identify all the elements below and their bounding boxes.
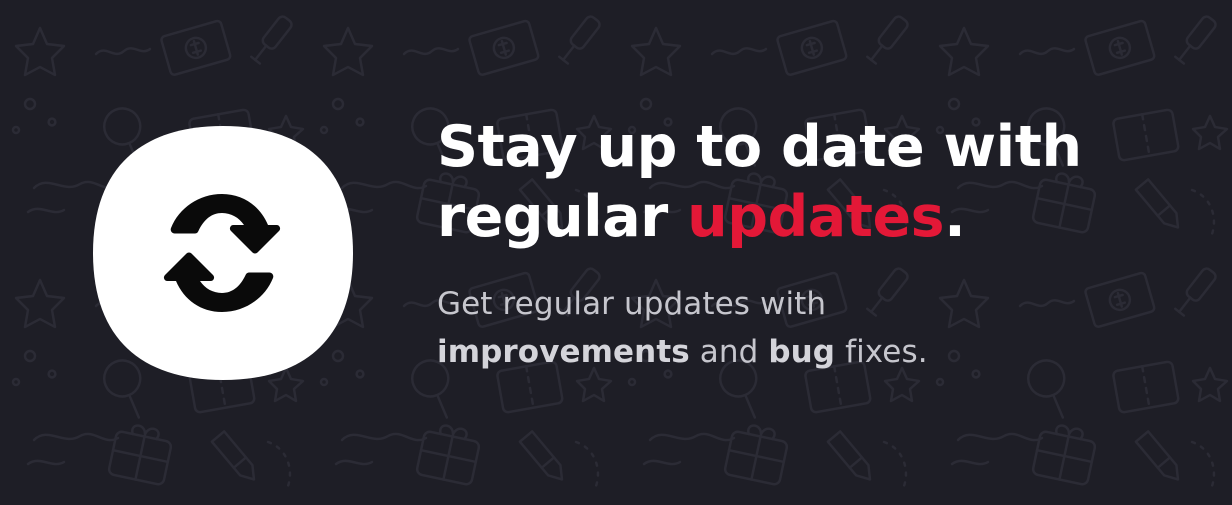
page-title: Stay up to date with regular updates.	[437, 112, 1137, 252]
subtitle-strong-bug: bug	[768, 334, 835, 370]
headline-line-1: Stay up to date with	[437, 112, 1137, 182]
subtitle-strong-improvements: improvements	[437, 334, 690, 370]
headline-line-2: regular updates.	[437, 182, 1137, 252]
text-block: Stay up to date with regular updates. Ge…	[437, 112, 1137, 376]
subtitle-suffix: fixes.	[835, 334, 928, 370]
subtitle-mid: and	[690, 334, 769, 370]
headline-suffix: .	[944, 184, 965, 250]
headline-prefix: regular	[437, 184, 687, 250]
headline-accent-word: updates	[687, 184, 944, 250]
page-subtitle: Get regular updates with improvements an…	[437, 280, 1137, 376]
subtitle-line-2: improvements and bug fixes.	[437, 328, 1137, 376]
squircle-background	[93, 126, 353, 380]
app-icon-tile	[93, 126, 353, 380]
feature-banner: Stay up to date with regular updates. Ge…	[0, 0, 1232, 505]
subtitle-line-1: Get regular updates with	[437, 280, 1137, 328]
